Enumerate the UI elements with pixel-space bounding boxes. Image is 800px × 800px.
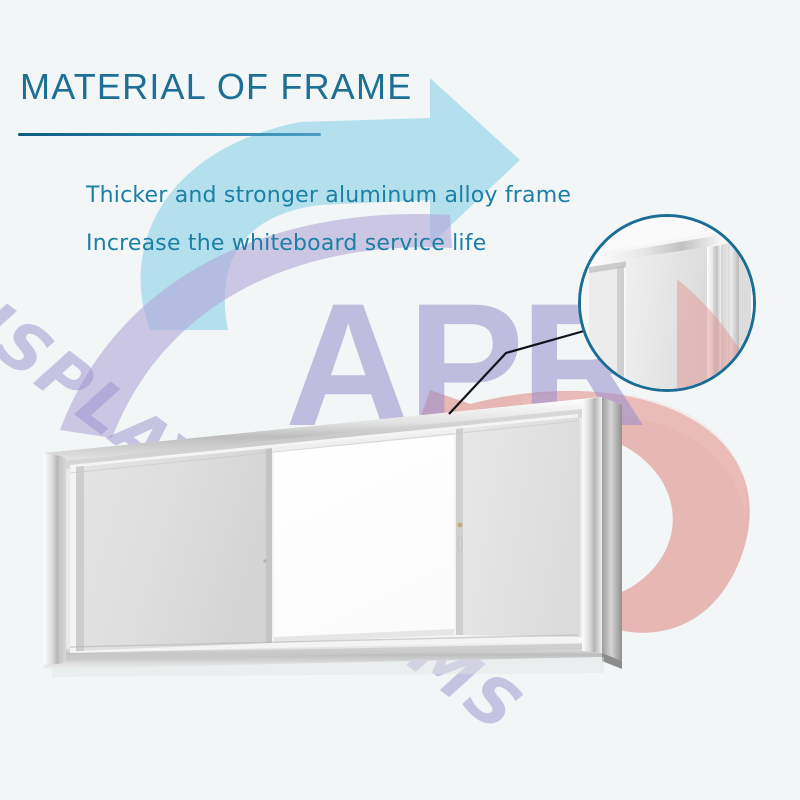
frame-detail-magnifier[interactable] xyxy=(578,214,756,392)
poster-canvas: APR DISPLAY SYSTEMS MATERIAL OF FRAME Th… xyxy=(0,0,800,800)
callout-leader-line xyxy=(0,0,800,800)
frame-detail-image xyxy=(581,217,756,392)
